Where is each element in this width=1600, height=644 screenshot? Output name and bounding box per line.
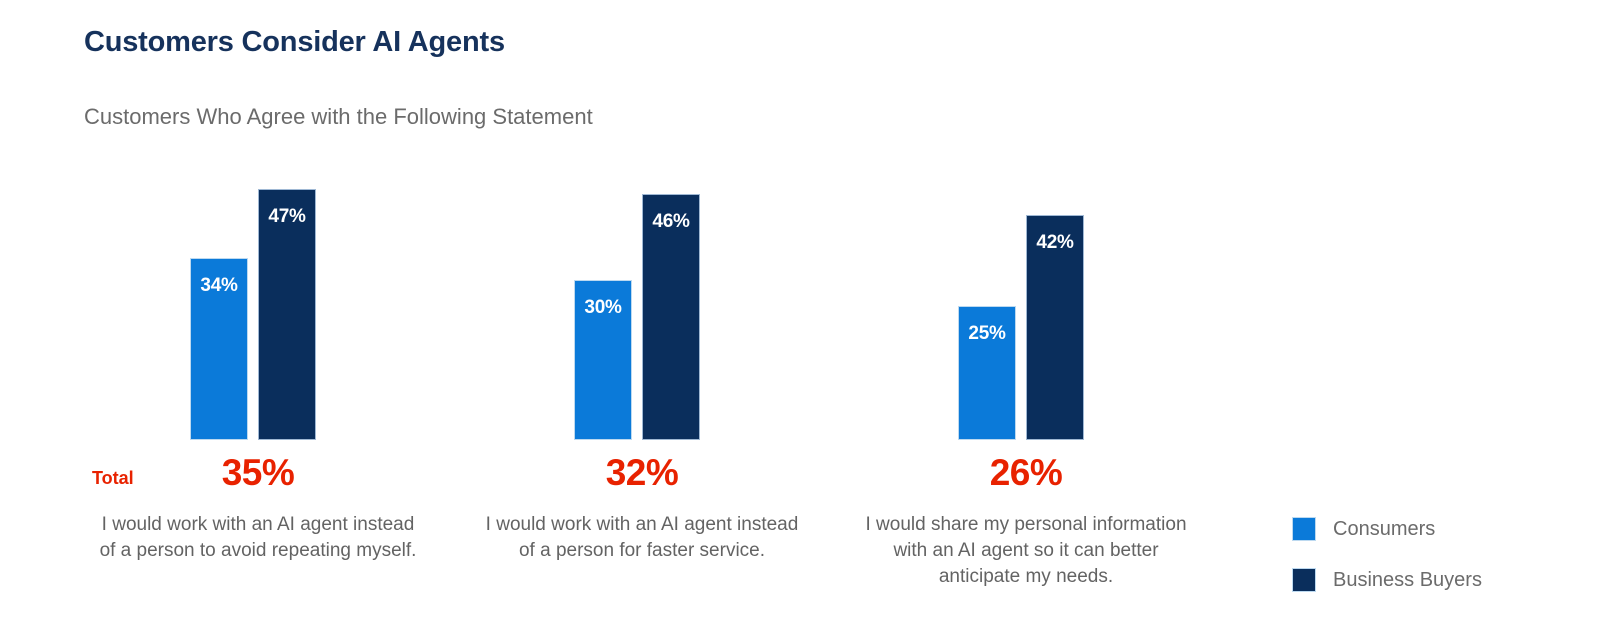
- total-value-3: 26%: [856, 452, 1196, 494]
- total-value-1: 35%: [88, 452, 428, 494]
- bar-group-3-bars: 25% 42%: [856, 160, 1196, 440]
- page-title: Customers Consider AI Agents: [84, 26, 505, 59]
- bar-value-consumers-1: 34%: [191, 275, 247, 297]
- bar-value-business-3: 42%: [1027, 232, 1083, 254]
- bar-group-3: 25% 42%: [856, 160, 1196, 440]
- legend: Consumers Business Buyers: [1292, 512, 1572, 614]
- bar-group-1-bars: 34% 47%: [88, 160, 428, 440]
- plot-area: 34% 47% 30% 46% 25%: [0, 160, 1260, 440]
- bar-group-2-bars: 30% 46%: [472, 160, 812, 440]
- total-value-2: 32%: [472, 452, 812, 494]
- totals-row: Total 35% 32% 26%: [0, 440, 1260, 500]
- bar-value-consumers-3: 25%: [959, 323, 1015, 345]
- bar-consumers-2: 30%: [574, 280, 632, 440]
- bar-group-1: 34% 47%: [88, 160, 428, 440]
- bar-group-2: 30% 46%: [472, 160, 812, 440]
- bar-business-3: 42%: [1026, 215, 1084, 440]
- bar-value-business-1: 47%: [259, 206, 315, 228]
- legend-label-consumers: Consumers: [1333, 518, 1435, 541]
- bar-business-2: 46%: [642, 194, 700, 440]
- category-caption-3: I would share my personal information wi…: [856, 512, 1196, 590]
- bar-value-business-2: 46%: [643, 211, 699, 233]
- legend-label-business-buyers: Business Buyers: [1333, 569, 1482, 592]
- bar-business-1: 47%: [258, 189, 316, 440]
- chart-subtitle: Customers Who Agree with the Following S…: [84, 104, 593, 130]
- legend-item-consumers[interactable]: Consumers: [1292, 512, 1572, 546]
- bar-consumers-3: 25%: [958, 306, 1016, 440]
- bar-consumers-1: 34%: [190, 258, 248, 440]
- legend-swatch-consumers-icon: [1292, 517, 1316, 541]
- bar-value-consumers-2: 30%: [575, 297, 631, 319]
- legend-swatch-business-buyers-icon: [1292, 568, 1316, 592]
- category-caption-1: I would work with an AI agent instead of…: [93, 512, 423, 564]
- category-caption-2: I would work with an AI agent instead of…: [477, 512, 807, 564]
- legend-item-business-buyers[interactable]: Business Buyers: [1292, 563, 1572, 597]
- chart-container: Customers Consider AI Agents Customers W…: [0, 0, 1600, 644]
